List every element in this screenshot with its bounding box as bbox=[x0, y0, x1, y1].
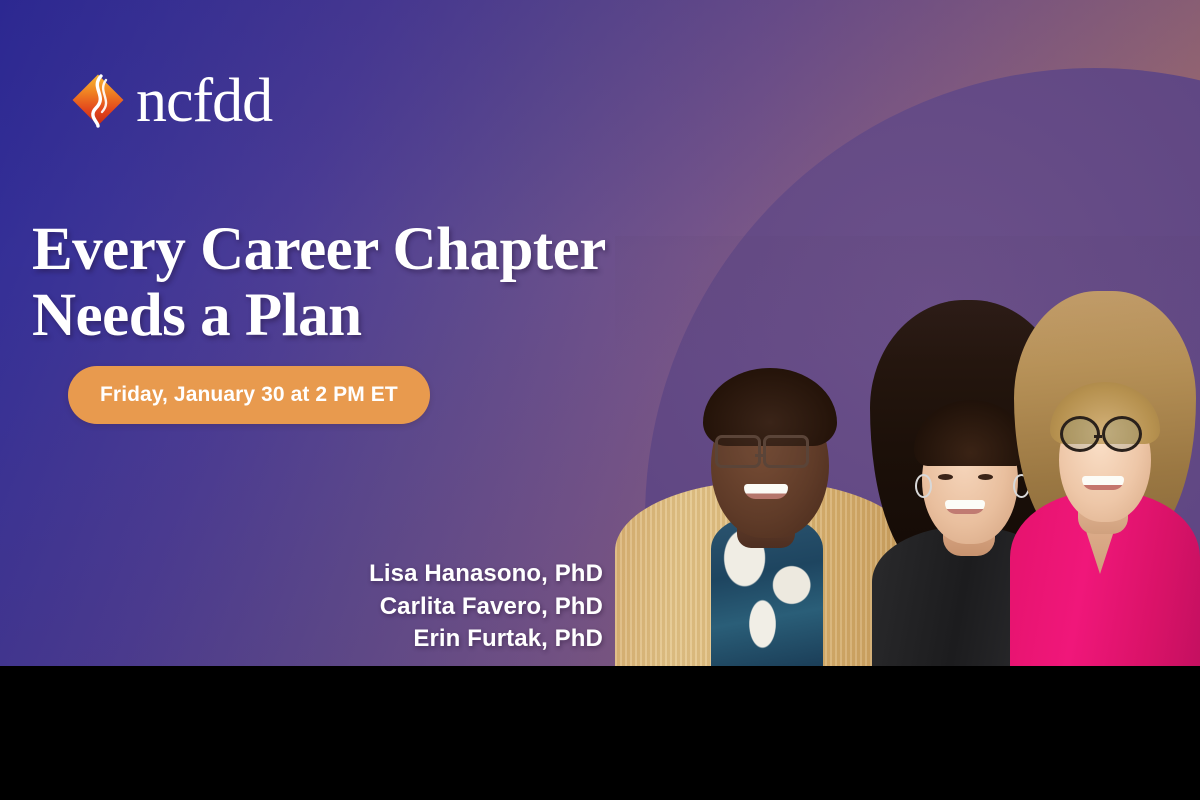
p2-eye-left bbox=[938, 474, 953, 480]
screenshot-canvas: ncfdd Every Career Chapter Needs a Plan … bbox=[0, 0, 1200, 800]
webinar-promo-banner: ncfdd Every Career Chapter Needs a Plan … bbox=[0, 0, 1200, 666]
event-date-badge[interactable]: Friday, January 30 at 2 PM ET bbox=[68, 366, 430, 424]
p2-hoop-earring-left bbox=[915, 474, 932, 498]
p1-eyeglass-left bbox=[715, 435, 761, 468]
speaker-photo-erin-furtak bbox=[1010, 236, 1200, 666]
ncfdd-flame-diamond-icon bbox=[68, 70, 128, 130]
ncfdd-logo[interactable]: ncfdd bbox=[68, 68, 272, 132]
speaker-name-3: Erin Furtak, PhD bbox=[369, 623, 603, 656]
p3-eyeglass-bridge bbox=[1094, 435, 1102, 439]
p2-smile bbox=[945, 500, 985, 514]
p1-eyeglass-right bbox=[763, 435, 809, 468]
p3-smile bbox=[1082, 476, 1124, 490]
ncfdd-wordmark: ncfdd bbox=[136, 70, 272, 132]
speaker-list: Lisa Hanasono, PhD Carlita Favero, PhD E… bbox=[369, 558, 603, 656]
speaker-photo-group bbox=[615, 236, 1200, 666]
p2-eye-right bbox=[978, 474, 993, 480]
speaker-name-2: Carlita Favero, PhD bbox=[369, 591, 603, 624]
p3-eyeglass-right bbox=[1102, 416, 1142, 452]
speaker-name-1: Lisa Hanasono, PhD bbox=[369, 558, 603, 591]
p1-smile bbox=[744, 484, 788, 499]
letterbox-bar bbox=[0, 666, 1200, 800]
p1-eyeglass-bridge bbox=[755, 454, 763, 457]
